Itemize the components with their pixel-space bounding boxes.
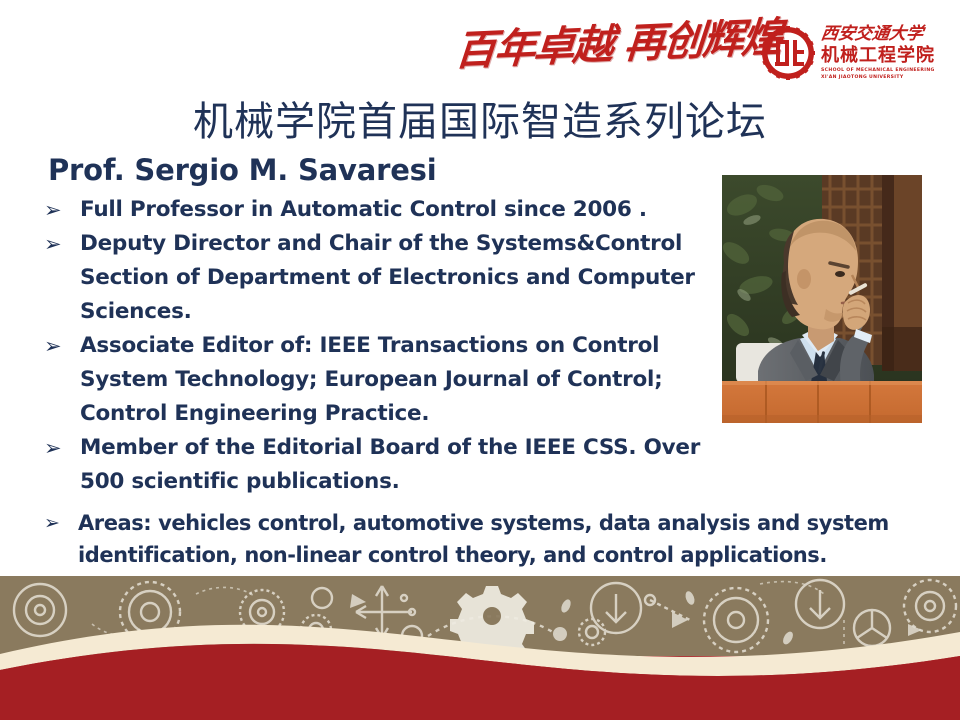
logo-university-name: 西安交通大学 [820,24,951,45]
presentation-slide: 百年卓越 再创辉煌 [0,0,960,720]
logo-university-name-en: XI'AN JIAOTONG UNIVERSITY [821,75,949,81]
list-item: ➢ Deputy Director and Chair of the Syste… [44,227,744,329]
list-item: ➢ Areas: vehicles control, automotive sy… [44,507,949,571]
speaker-name: Prof. Sergio M. Savaresi [48,152,436,188]
speaker-research-areas: ➢ Areas: vehicles control, automotive sy… [44,507,949,571]
list-item-text: Member of the Editorial Board of the IEE… [80,431,744,499]
header-logo-band: 百年卓越 再创辉煌 [455,18,950,96]
arrow-bullet-icon: ➢ [44,227,80,261]
xjtu-school-logo: 西安交通大学 机械工程学院 SCHOOL OF MECHANICAL ENGIN… [755,22,950,86]
logo-school-name-en: SCHOOL OF MECHANICAL ENGINEERING [821,68,949,74]
calligraphy-slogan: 百年卓越 再创辉煌 [452,7,754,86]
list-item: ➢ Full Professor in Automatic Control si… [44,193,744,227]
arrow-bullet-icon: ➢ [44,193,80,227]
list-item-text: Deputy Director and Chair of the Systems… [80,227,744,329]
list-item: ➢ Member of the Editorial Board of the I… [44,431,744,499]
xjtu-gear-emblem [761,26,815,80]
list-item-text: Associate Editor of: IEEE Transactions o… [80,329,744,431]
footer-decorative-band [0,576,960,720]
page-title: 机械学院首届国际智造系列论坛 [0,99,960,145]
xjtu-logo-text: 西安交通大学 机械工程学院 SCHOOL OF MECHANICAL ENGIN… [821,24,949,81]
speaker-bio-list: ➢ Full Professor in Automatic Control si… [44,193,744,499]
list-item-text: Areas: vehicles control, automotive syst… [78,507,949,571]
arrow-bullet-icon: ➢ [44,431,80,465]
list-item: ➢ Associate Editor of: IEEE Transactions… [44,329,744,431]
list-item-text: Full Professor in Automatic Control sinc… [80,193,744,227]
logo-school-name: 机械工程学院 [821,45,949,67]
arrow-bullet-icon: ➢ [44,507,78,539]
arrow-bullet-icon: ➢ [44,329,80,363]
speaker-photo [722,175,922,423]
